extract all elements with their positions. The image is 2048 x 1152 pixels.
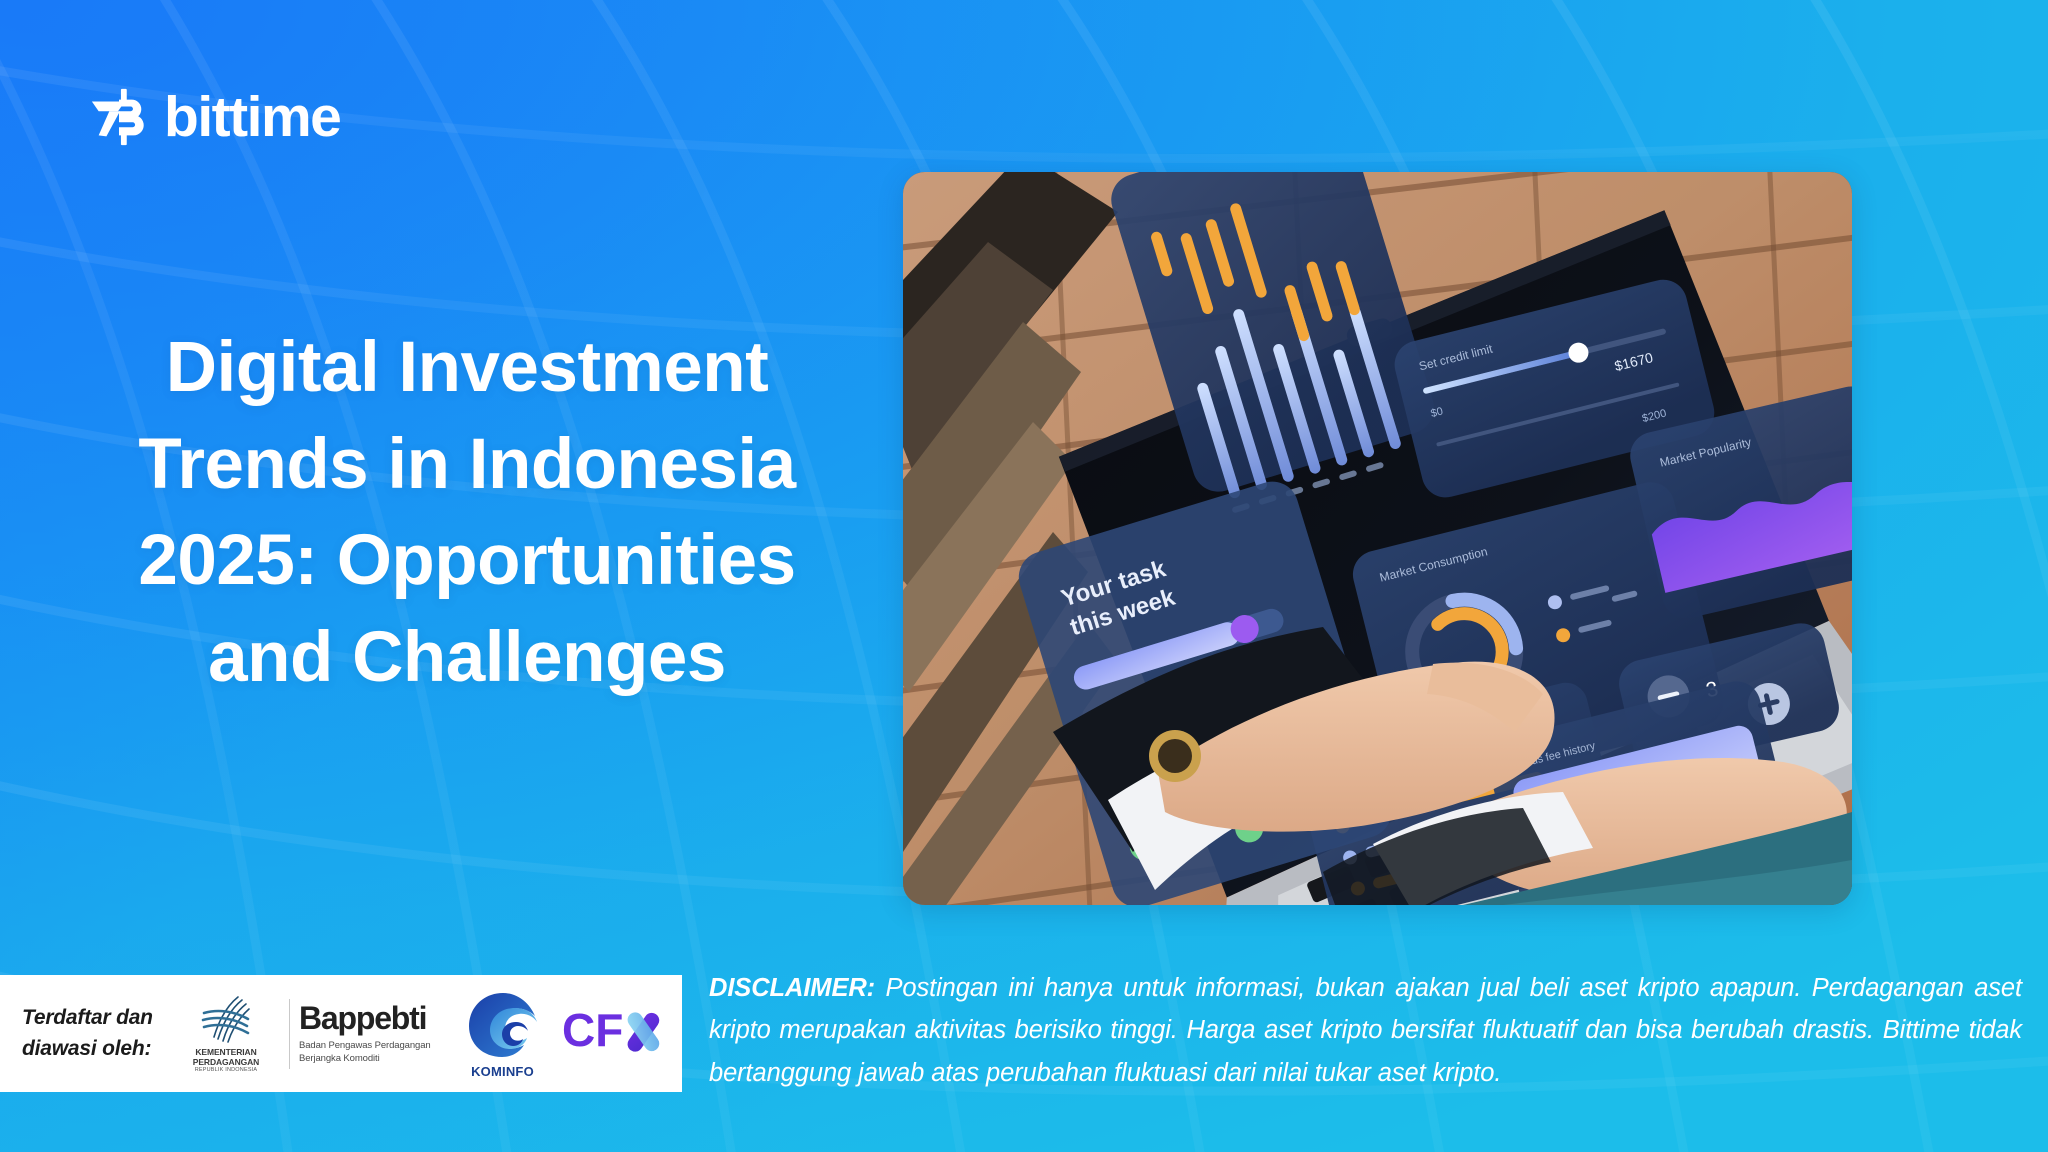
bittime-b-mark-icon <box>88 86 150 148</box>
disclaimer-body: Postingan ini hanya untuk informasi, buk… <box>709 974 2022 1087</box>
disclaimer-text: DISCLAIMER: Postingan ini hanya untuk in… <box>709 967 2022 1094</box>
svg-text:CF: CF <box>562 1004 623 1056</box>
cfx-logo: CF <box>556 1004 696 1063</box>
kemendag-wheat-icon <box>198 993 254 1045</box>
bappebti-subtitle-line2: Berjangka Komoditi <box>299 1053 449 1066</box>
kemendag-line2: PERDAGANGAN <box>193 1058 259 1068</box>
cfx-logo-icon: CF <box>562 1004 690 1063</box>
bappebti-title: Bappebti <box>299 1002 449 1034</box>
disclaimer-label: DISCLAIMER: <box>709 974 875 1002</box>
badge-intro-text: Terdaftar dan diawasi oleh: <box>22 1003 172 1064</box>
bittime-logo[interactable]: bittime <box>88 86 340 148</box>
hero-photo-scene: Set credit limit $0 $1670 $200 Market Co… <box>903 172 1852 905</box>
badge-intro-line2: diawasi oleh: <box>22 1034 172 1064</box>
kemendag-logo: KEMENTERIAN PERDAGANGAN REPUBLIK INDONES… <box>172 993 280 1073</box>
kominfo-logo: KOMINFO <box>449 989 556 1079</box>
badge-divider <box>289 999 290 1069</box>
bappebti-logo: Bappebti Badan Pengawas Perdagangan Berj… <box>299 1002 449 1065</box>
kemendag-line3: REPUBLIK INDONESIA <box>193 1067 259 1073</box>
regulator-badge-bar: Terdaftar dan diawasi oleh: KEMENTERIAN <box>0 975 682 1092</box>
kominfo-label: KOMINFO <box>471 1064 534 1079</box>
hero-photo: Set credit limit $0 $1670 $200 Market Co… <box>903 172 1852 905</box>
page-title: Digital Investment Trends in Indonesia 2… <box>72 320 862 706</box>
bappebti-subtitle-line1: Badan Pengawas Perdagangan <box>299 1040 449 1053</box>
bappebti-subtitle: Badan Pengawas Perdagangan Berjangka Kom… <box>299 1040 449 1065</box>
badge-intro-line1: Terdaftar dan <box>22 1003 172 1033</box>
bittime-wordmark: bittime <box>164 89 340 146</box>
kominfo-wave-icon <box>466 989 540 1066</box>
kemendag-caption: KEMENTERIAN PERDAGANGAN REPUBLIK INDONES… <box>193 1048 259 1073</box>
